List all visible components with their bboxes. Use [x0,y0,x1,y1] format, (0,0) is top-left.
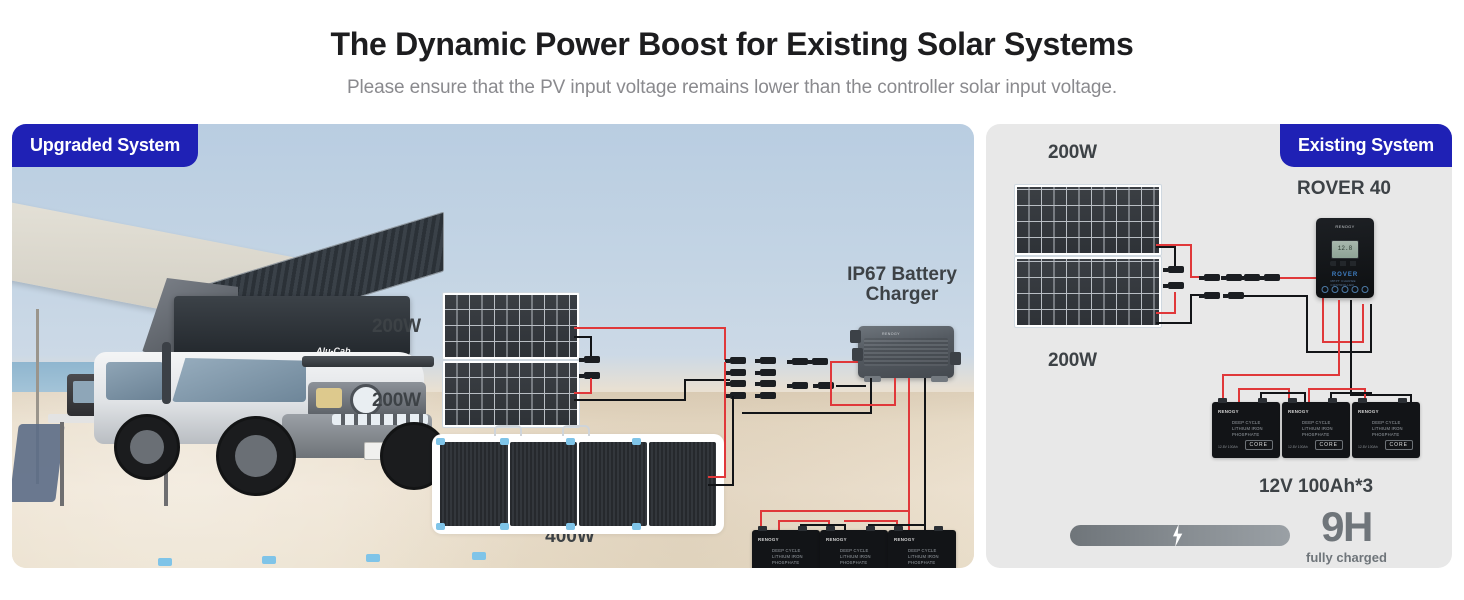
mc4-connector [1204,274,1220,281]
panel-label-200w-top: 200W [372,316,421,338]
existing-system-badge: Existing System [1280,124,1452,167]
mc4-connector [812,358,828,365]
wire-negative [1190,294,1192,324]
wire-positive [724,362,726,478]
battery-series: CORE [1315,440,1343,450]
battery-1: RENOGY DEEP CYCLELITHIUM IRONPHOSPHATE 1… [1212,402,1280,458]
wire-positive [1156,244,1192,246]
battery-brand: RENOGY [1358,409,1379,414]
battery-series: CORE [1245,440,1273,450]
rover-40-charge-controller: RENOGY 12.8 ROVER MPPT CHARGE CONTROLLER [1316,218,1374,298]
windshield [172,358,306,402]
wire-negative [1350,394,1412,396]
wire-positive [1338,300,1340,376]
rover-40-label: ROVER 40 [1274,178,1414,200]
wire-positive [778,520,830,522]
wire-positive [1322,341,1364,343]
battery-spec: DEEP CYCLELITHIUM IRONPHOSPHATE [1232,420,1263,438]
battery-2: RENOGY DEEP CYCLELITHIUM IRONPHOSPHATE 1… [1282,402,1350,458]
solar-panel-200w-1 [442,292,580,360]
infographic-page: The Dynamic Power Boost for Existing Sol… [0,0,1464,600]
controller-buttons[interactable] [1330,261,1360,266]
wire-positive [894,378,896,406]
mc4-connector [1228,292,1244,299]
wire-positive-bus [760,510,910,512]
battery-rating: 12.8V 100Ah [1358,445,1378,449]
battery-brand: RENOGY [758,537,779,542]
mc4-connector [1168,282,1184,289]
controller-display-value: 12.8 [1338,245,1352,252]
charge-time-indicator-existing: 9H fully charged [1070,506,1387,565]
battery-spec: DEEP CYCLELITHIUM IRONPHOSPHATE [1302,420,1333,438]
wire-positive [1238,388,1240,402]
headlight [316,388,342,408]
wire-negative [1330,392,1372,394]
wire-positive [590,378,592,394]
upgraded-system-panel: Alu-Cab [12,124,974,568]
charge-status-label: fully charged [1306,550,1387,565]
mc4-connector [584,356,600,363]
battery-series: CORE [1385,440,1413,450]
wire-negative [574,399,686,401]
charge-progress-bar [1070,525,1290,546]
ip67-battery-charger: RENOGY [858,326,954,378]
wire-negative [870,378,872,414]
panel-label-200w-bottom: 200W [1048,350,1097,372]
wire-negative [1156,246,1176,248]
mc4-connector [792,358,808,365]
mc4-branch-connector [760,369,776,376]
charge-time-value: 9H [1306,506,1387,548]
battery-3: RENOGY DEEP CYCLELITHIUM IRONPHOSPHATE 1… [888,530,956,568]
vehicle: Alu-Cab [64,264,460,514]
battery-brand: RENOGY [1288,409,1309,414]
battery-spec: DEEP CYCLELITHIUM IRONPHOSPHATE [908,548,939,566]
wire-positive [844,520,898,522]
battery-3: RENOGY DEEP CYCLELITHIUM IRONPHOSPHATE 1… [1352,402,1420,458]
wire-negative [1306,295,1308,353]
wire-positive [1174,292,1176,314]
battery-brand: RENOGY [826,537,847,542]
wire-positive [1156,312,1176,314]
controller-ports [1322,286,1369,293]
rear-window [106,362,164,400]
panel-label-200w-middle: 200W [372,390,421,412]
charger-brand: RENOGY [882,332,900,336]
mc4-branch-connector [760,392,776,399]
wire-negative [708,484,734,486]
battery-spec: DEEP CYCLELITHIUM IRONPHOSPHATE [840,548,871,566]
wire-negative [742,412,872,414]
ip67-charger-label-line1: IP67 Battery [812,264,974,286]
wire-negative [836,385,866,387]
battery-2: RENOGY DEEP CYCLELITHIUM IRONPHOSPHATE 1… [820,530,888,568]
battery-1: RENOGY DEEP CYCLELITHIUM IRONPHOSPHATE 1… [752,530,820,568]
mc4-connector [730,380,746,387]
battery-brand: RENOGY [1218,409,1239,414]
controller-name: ROVER [1332,272,1358,278]
battery-brand: RENOGY [894,537,915,542]
battery-rating: 12.8V 100Ah [1218,445,1238,449]
header: The Dynamic Power Boost for Existing Sol… [0,0,1464,99]
wire-negative [924,378,926,528]
existing-system-panel: Existing System 200W 200W ROVER 40 [986,124,1452,568]
wire-positive-bus [1222,374,1340,376]
mc4-connector [1244,274,1260,281]
solar-panel-400w-folding [432,434,724,534]
page-title: The Dynamic Power Boost for Existing Sol… [0,0,1464,63]
page-subtitle: Please ensure that the PV input voltage … [0,63,1464,99]
wire-positive [1238,388,1290,390]
roof-light-bar [302,356,434,367]
mc4-connector [1204,292,1220,299]
battery-bank-label: 12V 100Ah*3 [1208,476,1424,498]
wire-negative [1156,322,1192,324]
wire-negative [1260,392,1306,394]
battery-spec: DEEP CYCLELITHIUM IRONPHOSPHATE [772,548,803,566]
wire-positive [1308,388,1366,390]
mc4-connector [1264,274,1280,281]
charger-fins [864,338,948,366]
wire-positive [908,378,910,530]
mc4-connector [1168,266,1184,273]
mc4-connector [584,372,600,379]
battery-rating: 12.8V 100Ah [1288,445,1308,449]
mc4-branch-connector [760,357,776,364]
lightning-bolt-icon [1170,524,1185,547]
battery-spec: DEEP CYCLELITHIUM IRONPHOSPHATE [1372,420,1403,438]
wire-positive [574,327,726,329]
wire-positive [830,404,896,406]
mc4-connector [730,357,746,364]
mc4-connector [730,369,746,376]
wire-negative [732,396,734,486]
rear-tire [114,414,180,480]
panel-label-200w-top: 200W [1048,142,1097,164]
wire-positive [724,327,726,360]
controller-display: 12.8 [1331,240,1359,259]
wire-positive [830,361,860,363]
mc4-connector [792,382,808,389]
controller-brand: RENOGY [1335,224,1354,229]
wire-negative [1370,304,1372,353]
wire-negative [1350,300,1352,396]
wire-positive [830,363,832,406]
solar-panel-200w-2 [1014,256,1162,328]
wire-positive [1308,388,1310,402]
wire-positive [1362,304,1364,343]
solar-panel-200w-1 [1014,184,1162,256]
solar-panel-200w-2 [442,360,580,428]
upgraded-system-badge: Upgraded System [12,124,198,167]
wire-negative [1304,392,1306,402]
mc4-branch-connector [760,380,776,387]
ip67-charger-label-line2: Charger [812,284,974,306]
wire-negative [1244,295,1308,297]
snorkel [162,342,171,404]
front-tire [216,416,296,496]
wire-positive [1190,244,1192,278]
wire-negative [684,379,686,401]
